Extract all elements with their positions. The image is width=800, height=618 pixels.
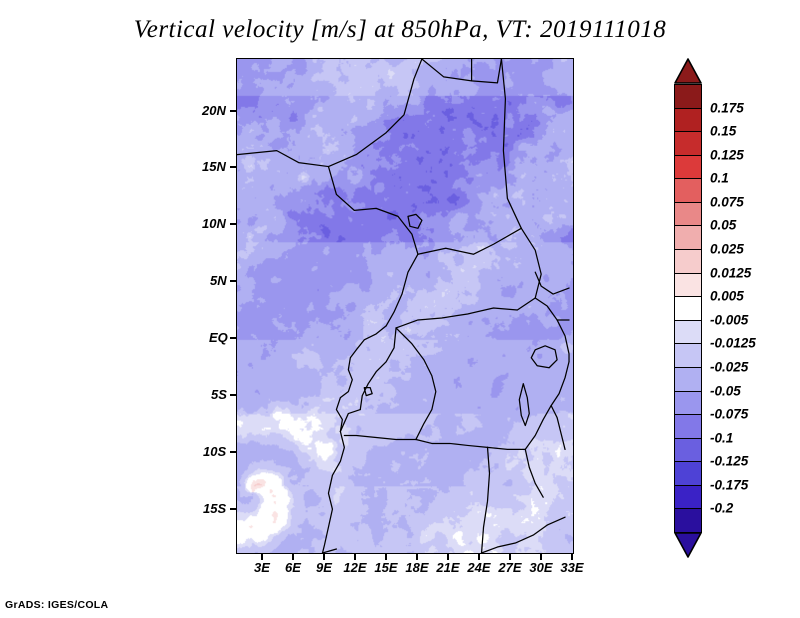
colorbar-tick-label: 0.0125 — [710, 265, 751, 280]
colorbar-tick-label: 0.15 — [710, 124, 736, 139]
y-tick-mark — [230, 451, 236, 453]
page-title: Vertical velocity [m/s] at 850hPa, VT: 2… — [0, 16, 800, 44]
y-tick-mark — [230, 394, 236, 396]
x-axis-label-6e: 6E — [277, 560, 309, 575]
colorbar-tick-label: 0.025 — [710, 242, 744, 257]
colorbar-swatch — [674, 414, 702, 439]
colorbar-tick-label: 0.075 — [710, 194, 744, 209]
x-axis-label-3e: 3E — [246, 560, 278, 575]
x-axis-label-33e: 33E — [553, 560, 591, 575]
colorbar-swatch — [674, 273, 702, 298]
colorbar-swatch — [674, 178, 702, 203]
colorbar-swatch — [674, 367, 702, 392]
grads-credit: GrADS: IGES/COLA — [5, 599, 108, 611]
colorbar-swatch — [674, 485, 702, 510]
colorbar-tick-label: -0.0125 — [710, 336, 756, 351]
country-borders-overlay — [237, 59, 573, 553]
colorbar-arrow-bottom — [674, 532, 702, 558]
colorbar-swatch — [674, 108, 702, 133]
colorbar-tick-label: -0.05 — [710, 383, 741, 398]
colorbar-swatch — [674, 296, 702, 321]
y-tick-mark — [230, 223, 236, 225]
colorbar-tick-label: 0.1 — [710, 171, 729, 186]
colorbar-swatch — [674, 343, 702, 368]
colorbar-swatch — [674, 202, 702, 227]
y-tick-mark — [230, 166, 236, 168]
y-tick-mark — [230, 337, 236, 339]
colorbar-swatch — [674, 225, 702, 250]
colorbar-tick-label: 0.05 — [710, 218, 736, 233]
colorbar-swatch — [674, 391, 702, 416]
colorbar: 0.1750.150.1250.10.0750.050.0250.01250.0… — [674, 58, 702, 558]
colorbar-tick-label: -0.1 — [710, 430, 733, 445]
colorbar-tick-label: -0.025 — [710, 359, 748, 374]
colorbar-swatch — [674, 131, 702, 156]
colorbar-swatch — [674, 438, 702, 463]
colorbar-tick-label: 0.175 — [710, 100, 744, 115]
colorbar-swatch — [674, 461, 702, 486]
colorbar-swatch — [674, 508, 702, 533]
colorbar-tick-label: 0.005 — [710, 289, 744, 304]
colorbar-swatch — [674, 320, 702, 345]
colorbar-swatch — [674, 155, 702, 180]
y-tick-mark — [230, 508, 236, 510]
map-plot-area — [236, 58, 574, 554]
colorbar-tick-label: -0.075 — [710, 407, 748, 422]
colorbar-arrow-top — [674, 58, 702, 84]
colorbar-tick-label: -0.005 — [710, 312, 748, 327]
y-tick-mark — [230, 280, 236, 282]
colorbar-swatch — [674, 249, 702, 274]
colorbar-tick-label: -0.125 — [710, 454, 748, 469]
colorbar-tick-label: -0.175 — [710, 477, 748, 492]
colorbar-tick-label: -0.2 — [710, 501, 733, 516]
colorbar-swatch — [674, 84, 702, 109]
y-tick-mark — [230, 110, 236, 112]
colorbar-tick-label: 0.125 — [710, 147, 744, 162]
